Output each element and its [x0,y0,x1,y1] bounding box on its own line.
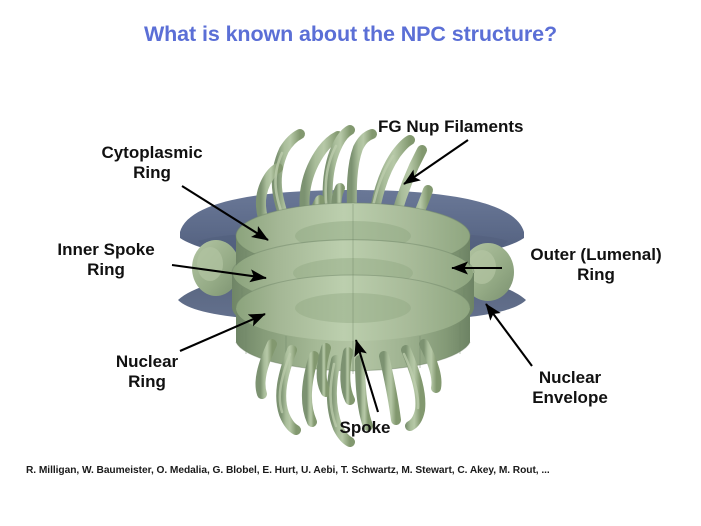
label-nuclear-ring: Nuclear Ring [92,352,202,392]
label-fg-nup-filaments: FG Nup Filaments [378,117,568,137]
label-spoke: Spoke [320,418,410,438]
label-inner-spoke-ring: Inner Spoke Ring [36,240,176,280]
arrow-nuclear-envelope [486,304,532,366]
label-outer-lumenal-ring: Outer (Lumenal) Ring [506,245,686,285]
slide-canvas: What is known about the NPC structure? [0,0,701,526]
label-cytoplasmic-ring: Cytoplasmic Ring [78,143,226,183]
label-nuclear-envelope: Nuclear Envelope [495,368,645,408]
citation-line: R. Milligan, W. Baumeister, O. Medalia, … [26,465,666,476]
npc-figure: Cytoplasmic Ring FG Nup Filaments Inner … [0,0,701,470]
